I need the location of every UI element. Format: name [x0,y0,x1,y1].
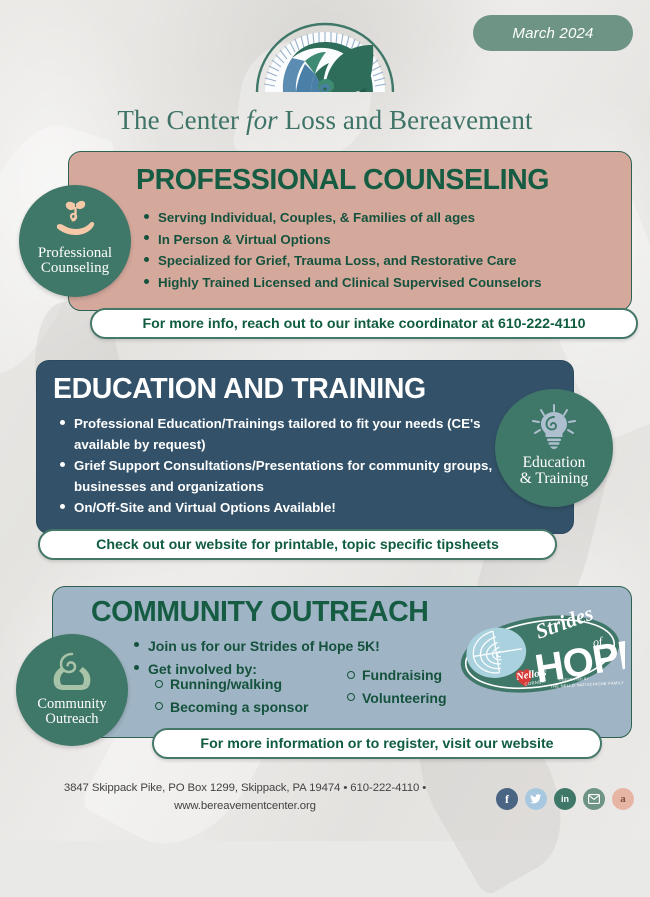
footer-address-line1: 3847 Skippack Pike, PO Box 1299, Skippac… [20,779,470,797]
list-item: Specialized for Grief, Trauma Loss, and … [141,250,623,272]
footer-website[interactable]: www.bereavementcenter.org [20,797,470,815]
badge-label-line2: & Training [520,471,588,487]
hands-cradling-spiral-icon [48,650,96,690]
list-item: Join us for our Strides of Hope 5K! [131,635,421,658]
section-title-community-outreach: COMMUNITY OUTREACH [91,598,428,627]
newsletter-page: March 2024 [0,0,650,841]
org-title-italic: for [246,105,278,135]
facebook-icon[interactable]: f [496,788,518,810]
date-badge: March 2024 [473,15,633,51]
badge-label-line1: Education [520,455,588,471]
badge-education-training: Education & Training [495,389,613,507]
section-title-education-training: EDUCATION AND TRAINING [53,375,426,404]
pill-intake-coordinator[interactable]: For more info, reach out to our intake c… [90,308,638,339]
section-professional-counseling: PROFESSIONAL COUNSELING Serving Individu… [68,151,632,311]
email-icon[interactable] [583,788,605,810]
section-title-professional-counseling: PROFESSIONAL COUNSELING [136,166,549,195]
badge-label-line2: Outreach [37,712,106,727]
hand-holding-sprout-icon [52,199,98,239]
org-title-part2: Loss and Bereavement [285,105,533,135]
pill-label: For more info, reach out to our intake c… [142,316,585,332]
badge-label-line2: Counseling [38,261,112,276]
badge-label-line1: Professional [38,246,112,261]
list-item: Professional Education/Trainings tailore… [57,413,512,455]
section-community-outreach: COMMUNITY OUTREACH Join us for our Strid… [52,586,632,738]
badge-professional-counseling: Professional Counseling [19,185,131,297]
pill-register-website[interactable]: For more information or to register, vis… [152,728,602,759]
page-title: The Center for Loss and Bereavement [0,105,650,136]
section-education-training: EDUCATION AND TRAINING Professional Educ… [36,360,574,534]
footer-address: 3847 Skippack Pike, PO Box 1299, Skippac… [20,779,470,816]
education-bullet-list: Professional Education/Trainings tailore… [57,413,512,518]
badge-label-line1: Community [37,697,106,712]
nautilus-shell-logo [255,14,395,98]
list-item: Grief Support Consultations/Presentation… [57,455,512,497]
org-title-part1: The Center [117,105,239,135]
pill-tipsheets[interactable]: Check out our website for printable, top… [38,529,557,560]
social-links: f in a [496,788,634,810]
pill-label: For more information or to register, vis… [200,736,553,752]
amazon-smile-icon[interactable]: a [612,788,634,810]
list-item: On/Off-Site and Virtual Options Availabl… [57,497,512,518]
lightbulb-spiral-icon [528,403,580,449]
date-badge-label: March 2024 [512,25,593,42]
linkedin-icon[interactable]: in [554,788,576,810]
badge-community-outreach: Community Outreach [16,634,128,746]
list-item: Highly Trained Licensed and Clinical Sup… [141,272,623,294]
twitter-icon[interactable] [525,788,547,810]
list-item: Serving Individual, Couples, & Families … [141,207,623,229]
strides-of-hope-logo: HOPE Strides of Nello's CORNER PRESENTED… [455,610,625,698]
footer: 3847 Skippack Pike, PO Box 1299, Skippac… [0,775,650,827]
pill-label: Check out our website for printable, top… [96,537,499,553]
counseling-bullet-list: Serving Individual, Couples, & Families … [141,207,623,293]
list-item: In Person & Virtual Options [141,229,623,251]
